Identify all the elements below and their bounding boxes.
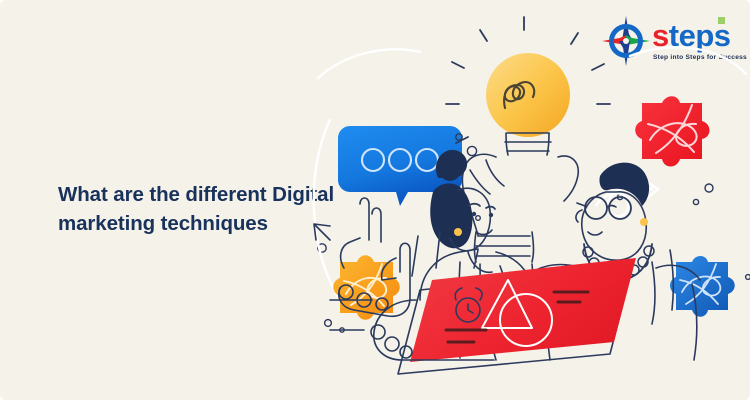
red-presentation-screen [398, 258, 636, 374]
red-puzzle-shape [635, 96, 709, 166]
earring [454, 228, 462, 236]
page-title: What are the different Digital marketing… [58, 180, 338, 239]
marketing-banner: steps Step into Steps for Success What a… [0, 0, 750, 400]
lightbulb-glass [486, 53, 570, 137]
blue-puzzle-shape [670, 256, 735, 317]
illustration [300, 0, 750, 400]
